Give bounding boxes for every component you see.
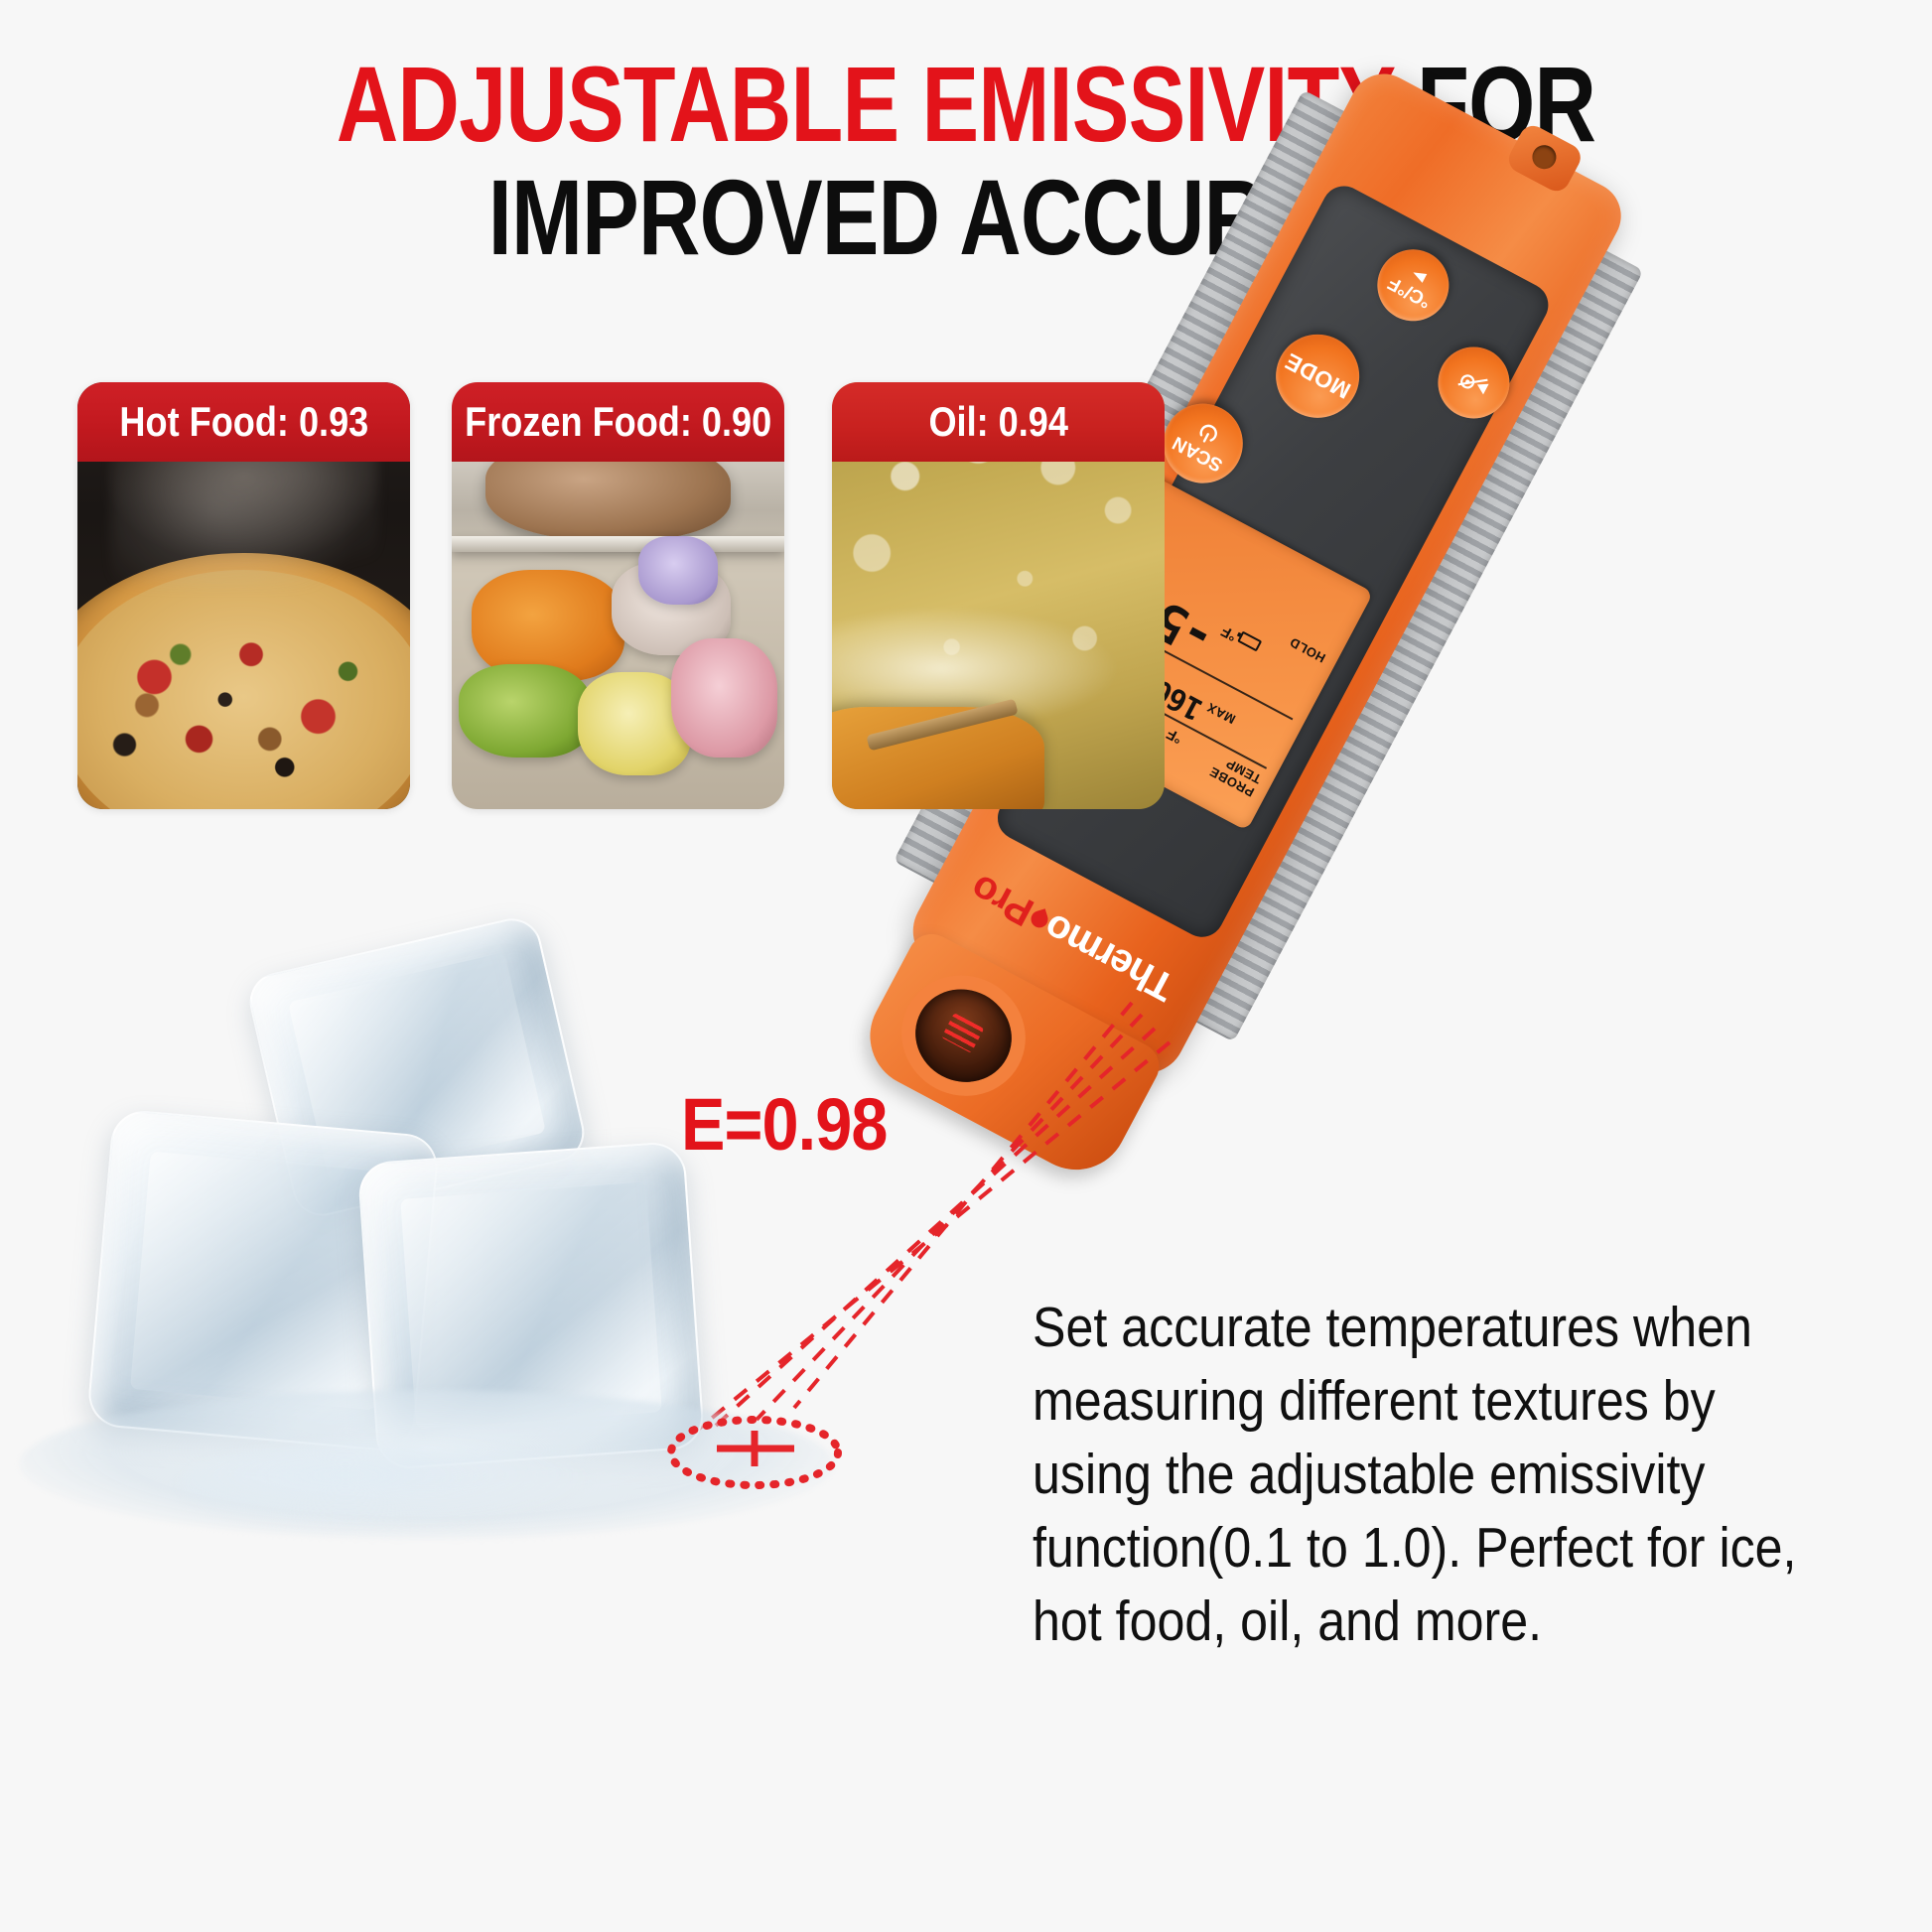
- food-card-oil: Oil: 0.94: [832, 382, 1165, 809]
- description-paragraph: Set accurate temperatures when measuring…: [1033, 1291, 1801, 1658]
- hot-food-label-text: Hot Food: 0.93: [119, 398, 368, 446]
- mode-button-label: MODE: [1280, 347, 1354, 404]
- laser-target-marker: [655, 1405, 854, 1496]
- battery-icon: [1237, 631, 1262, 652]
- headline-red-text: ADJUSTABLE EMISSIVITY: [337, 44, 1394, 164]
- food-card-frozen-food: Frozen Food: 0.90: [452, 382, 784, 809]
- lcd-main-unit: °F: [1218, 622, 1239, 644]
- frozen-food-label-bar: Frozen Food: 0.90: [452, 382, 784, 462]
- frozen-food-label-text: Frozen Food: 0.90: [465, 398, 771, 446]
- backlight-lamp-icon: [1453, 364, 1494, 401]
- oil-label-text: Oil: 0.94: [928, 398, 1068, 446]
- hot-food-label-bar: Hot Food: 0.93: [77, 382, 410, 462]
- oil-label-bar: Oil: 0.94: [832, 382, 1165, 462]
- water-reflection: [179, 1440, 596, 1529]
- logo-pro-text: Pro: [964, 866, 1040, 935]
- food-card-hot-food: Hot Food: 0.93: [77, 382, 410, 809]
